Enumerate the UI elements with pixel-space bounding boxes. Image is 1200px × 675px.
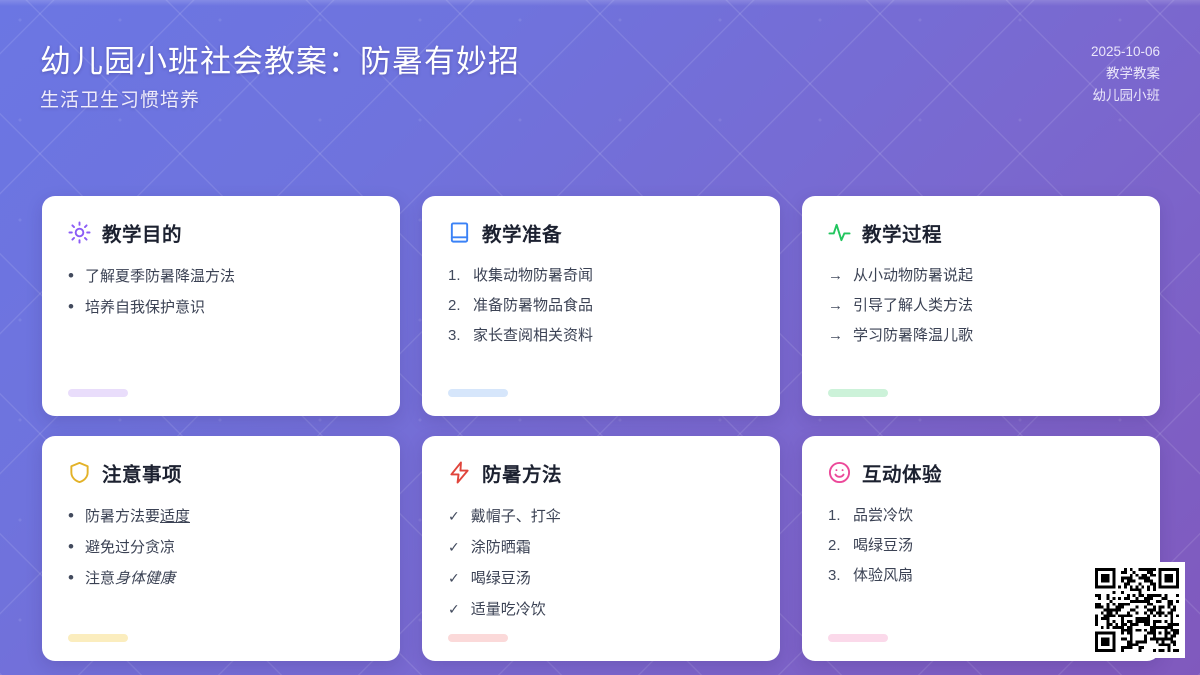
card-header: 互动体验: [828, 458, 1134, 486]
list-item-text: 了解夏季防暑降温方法: [85, 268, 235, 285]
list-item-text: 防暑方法要: [85, 508, 160, 525]
card-title: 教学目的: [102, 218, 182, 247]
list-marker: ✓: [448, 599, 460, 619]
card-list: →从小动物防暑说起→引导了解人类方法→学习防暑降温儿歌: [828, 266, 1134, 346]
slide-header: 幼儿园小班社会教案：防暑有妙招 生活卫生习惯培养 2025-10-06 教学教案…: [0, 0, 1200, 178]
list-marker: 1.: [448, 266, 464, 286]
list-item: ✓适量吃冷饮: [448, 599, 754, 620]
list-item: 1.品尝冷饮: [828, 506, 1134, 526]
list-item-text: 学习防暑降温儿歌: [853, 327, 973, 344]
card-title: 互动体验: [862, 458, 942, 487]
card-accent-bar: [68, 634, 128, 642]
list-item-text: 品尝冷饮: [853, 507, 913, 524]
list-item-text: 喝绿豆汤: [471, 570, 531, 587]
list-item: •了解夏季防暑降温方法: [68, 266, 374, 287]
card-title: 注意事项: [102, 458, 182, 487]
list-item-text: 喝绿豆汤: [853, 537, 913, 554]
list-item-text: 收集动物防暑奇闻: [473, 267, 593, 284]
card-header: 教学准备: [448, 218, 754, 246]
list-item: •避免过分贪凉: [68, 537, 374, 558]
card-list: 1.收集动物防暑奇闻2.准备防暑物品食品3.家长查阅相关资料: [448, 266, 754, 346]
list-marker: 2.: [828, 536, 844, 556]
card-list: •了解夏季防暑降温方法•培养自我保护意识: [68, 266, 374, 318]
list-item: 2.喝绿豆汤: [828, 536, 1134, 556]
meta-category: 教学教案: [1091, 63, 1160, 85]
list-item: •防暑方法要适度: [68, 506, 374, 527]
list-item-text: 准备防暑物品食品: [473, 297, 593, 314]
card-title: 教学准备: [482, 218, 562, 247]
list-marker: •: [68, 537, 74, 557]
meta-audience: 幼儿园小班: [1091, 85, 1160, 107]
list-item: ✓戴帽子、打伞: [448, 506, 754, 527]
qr-code[interactable]: [1089, 562, 1185, 658]
card-accent-bar: [828, 389, 888, 397]
book-icon: [448, 221, 471, 244]
card-注意事项[interactable]: 注意事项•防暑方法要适度•避免过分贪凉•注意身体健康: [42, 436, 400, 661]
list-item: →学习防暑降温儿歌: [828, 326, 1134, 346]
list-item-text: 从小动物防暑说起: [853, 267, 973, 284]
card-header: 教学过程: [828, 218, 1134, 246]
list-marker: ✓: [448, 506, 460, 526]
list-item: →引导了解人类方法: [828, 296, 1134, 316]
card-防暑方法[interactable]: 防暑方法✓戴帽子、打伞✓涂防晒霜✓喝绿豆汤✓适量吃冷饮: [422, 436, 780, 661]
activity-pulse-icon: [828, 221, 851, 244]
list-marker: ✓: [448, 537, 460, 557]
list-item: 1.收集动物防暑奇闻: [448, 266, 754, 286]
list-marker: →: [828, 266, 843, 286]
list-item: •注意身体健康: [68, 568, 374, 589]
list-marker: 3.: [828, 566, 844, 586]
lightning-bolt-icon: [448, 461, 471, 484]
list-item-text: 适量吃冷饮: [471, 601, 546, 618]
meta-date: 2025-10-06: [1091, 41, 1160, 63]
list-marker: •: [68, 297, 74, 317]
page-subtitle: 生活卫生习惯培养: [40, 85, 200, 112]
list-item: ✓涂防晒霜: [448, 537, 754, 558]
list-item: →从小动物防暑说起: [828, 266, 1134, 286]
list-item-text: 体验风扇: [853, 567, 913, 584]
list-item-emphasis-italic: 身体健康: [115, 570, 175, 587]
page-title: 幼儿园小班社会教案：防暑有妙招: [40, 36, 520, 81]
list-item-text: 培养自我保护意识: [85, 299, 205, 316]
card-grid: 教学目的•了解夏季防暑降温方法•培养自我保护意识教学准备1.收集动物防暑奇闻2.…: [42, 196, 1160, 661]
list-item: 3.家长查阅相关资料: [448, 326, 754, 346]
list-item-text: 戴帽子、打伞: [471, 508, 561, 525]
list-item: ✓喝绿豆汤: [448, 568, 754, 589]
list-marker: →: [828, 296, 843, 316]
card-list: •防暑方法要适度•避免过分贪凉•注意身体健康: [68, 506, 374, 589]
card-accent-bar: [68, 389, 128, 397]
list-item: 2.准备防暑物品食品: [448, 296, 754, 316]
card-list: ✓戴帽子、打伞✓涂防晒霜✓喝绿豆汤✓适量吃冷饮: [448, 506, 754, 620]
list-marker: •: [68, 568, 74, 588]
list-item-text: 涂防晒霜: [471, 539, 531, 556]
card-教学目的[interactable]: 教学目的•了解夏季防暑降温方法•培养自我保护意识: [42, 196, 400, 416]
qr-code-image: [1095, 568, 1179, 652]
card-title: 防暑方法: [482, 458, 562, 487]
card-教学过程[interactable]: 教学过程→从小动物防暑说起→引导了解人类方法→学习防暑降温儿歌: [802, 196, 1160, 416]
card-title: 教学过程: [862, 218, 942, 247]
shield-icon: [68, 461, 91, 484]
list-marker: ✓: [448, 568, 460, 588]
list-marker: 1.: [828, 506, 844, 526]
list-marker: 3.: [448, 326, 464, 346]
list-item: •培养自我保护意识: [68, 297, 374, 318]
list-item-text: 引导了解人类方法: [853, 297, 973, 314]
card-accent-bar: [828, 634, 888, 642]
card-accent-bar: [448, 389, 508, 397]
smiley-face-icon: [828, 461, 851, 484]
card-header: 注意事项: [68, 458, 374, 486]
list-item-text: 注意: [85, 570, 115, 587]
sun-icon: [68, 221, 91, 244]
card-教学准备[interactable]: 教学准备1.收集动物防暑奇闻2.准备防暑物品食品3.家长查阅相关资料: [422, 196, 780, 416]
header-meta: 2025-10-06 教学教案 幼儿园小班: [1091, 41, 1160, 107]
card-header: 防暑方法: [448, 458, 754, 486]
card-accent-bar: [448, 634, 508, 642]
list-item-text: 避免过分贪凉: [85, 539, 175, 556]
list-marker: •: [68, 266, 74, 286]
list-item-text: 家长查阅相关资料: [473, 327, 593, 344]
list-marker: •: [68, 506, 74, 526]
card-header: 教学目的: [68, 218, 374, 246]
list-marker: →: [828, 326, 843, 346]
slide-page: 幼儿园小班社会教案：防暑有妙招 生活卫生习惯培养 2025-10-06 教学教案…: [0, 0, 1200, 675]
list-item-emphasis-underline: 适度: [160, 508, 190, 525]
list-marker: 2.: [448, 296, 464, 316]
